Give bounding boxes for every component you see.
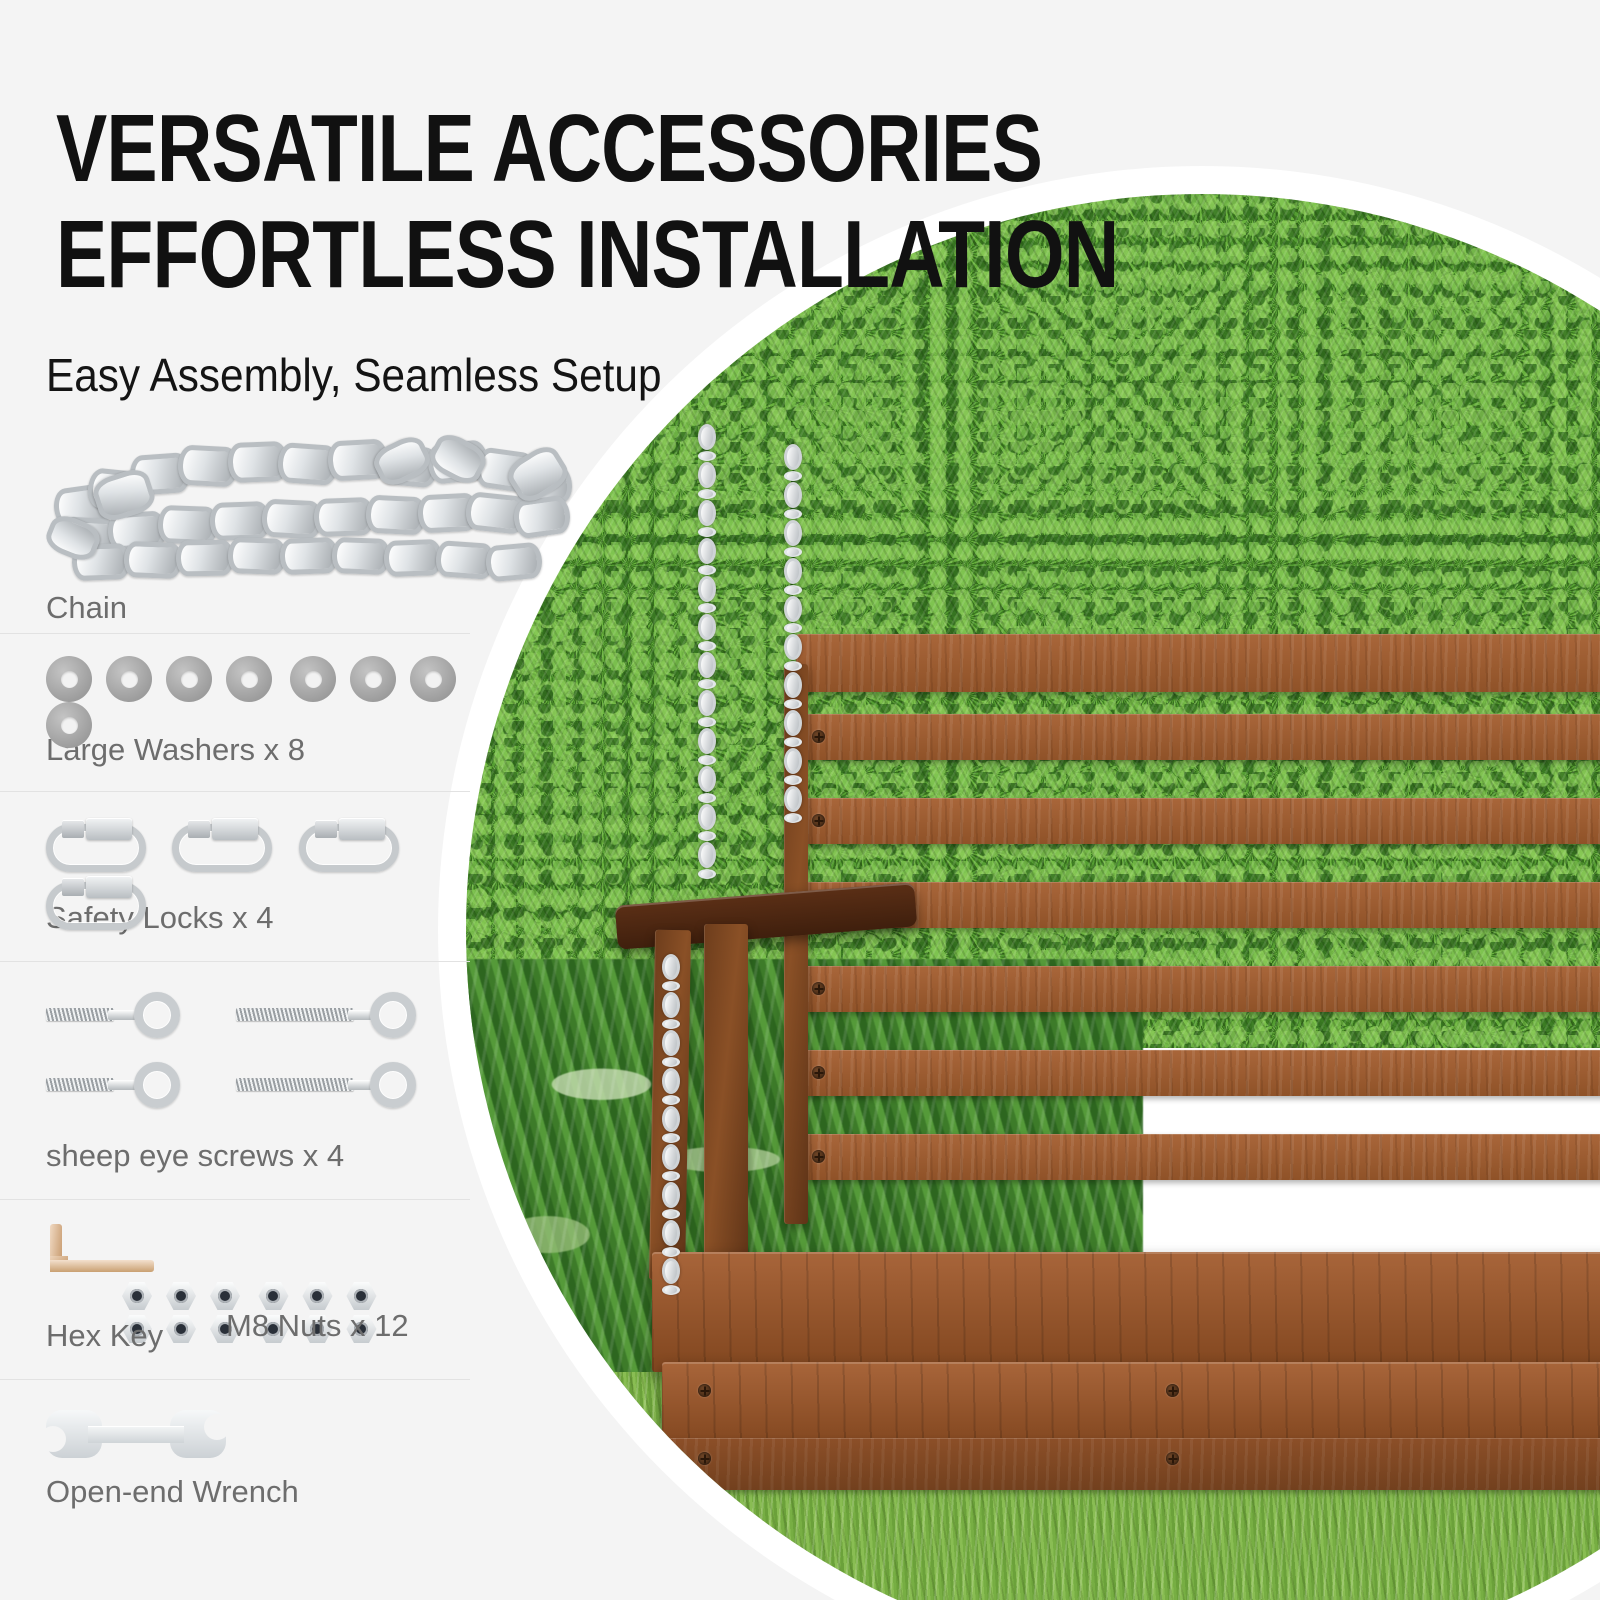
- subheadline: Easy Assembly, Seamless Setup: [46, 348, 661, 402]
- open-end-wrench-icon: [0, 1408, 500, 1460]
- parts-list-item-eye-screws: sheep eye screws x 4: [0, 962, 500, 1181]
- hanging-chain: [698, 424, 716, 880]
- hexkey-and-nuts-icons: [0, 1224, 500, 1310]
- headline-line-2: EFFORTLESS INSTALLATION: [56, 202, 952, 308]
- screw-icon: [812, 1066, 825, 1079]
- screw-icon: [1166, 1452, 1179, 1465]
- hex-key-label: Hex Key: [46, 1318, 163, 1353]
- parts-list-item-label: sheep eye screws x 4: [0, 1126, 500, 1171]
- parts-list-item-label: Open-end Wrench: [0, 1460, 500, 1507]
- headline: VERSATILE ACCESSORIES EFFORTLESS INSTALL…: [56, 96, 952, 307]
- armrest-support-post: [704, 924, 748, 1284]
- backrest-slat: [796, 966, 1600, 1012]
- backrest-slat: [796, 1050, 1600, 1096]
- parts-list-item-safety-locks: Safety Locks x 4: [0, 792, 500, 943]
- hanging-chain: [662, 954, 680, 1296]
- screw-icon: [1166, 1384, 1179, 1397]
- headline-line-1: VERSATILE ACCESSORIES: [56, 95, 1042, 202]
- quick-link-icon: [0, 818, 500, 888]
- backrest-slat: [796, 798, 1600, 844]
- parts-list-item-washers: Large Washers x 8: [0, 634, 500, 775]
- parts-list: Chain Large Washers x 8 Safety Locks x 4: [0, 432, 500, 1517]
- porch-swing: [466, 194, 1600, 1600]
- washer-icon: [0, 656, 500, 718]
- screw-icon: [698, 1452, 711, 1465]
- backrest-slat: [796, 882, 1600, 928]
- screw-icon: [698, 1384, 711, 1397]
- screw-icon: [812, 1150, 825, 1163]
- backrest-slat: [796, 714, 1600, 760]
- swing-top-rail: [796, 634, 1600, 692]
- swing-seat-skirt: [662, 1438, 1600, 1490]
- eye-screw-icon: [0, 986, 500, 1112]
- screw-icon: [812, 814, 825, 827]
- parts-list-item-wrench: Open-end Wrench: [0, 1380, 500, 1517]
- m8-nuts-label: M8 Nuts x 12: [226, 1310, 409, 1341]
- backrest-slat: [796, 1134, 1600, 1180]
- swing-seat-front-rail: [662, 1362, 1600, 1448]
- chain-icon: [0, 432, 500, 592]
- screw-icon: [812, 730, 825, 743]
- hex-key-icon: [46, 1224, 156, 1282]
- parts-list-item-label: Hex Key M8 Nuts x 12: [0, 1310, 500, 1351]
- swing-seat: [652, 1252, 1600, 1372]
- parts-list-item-hexkey-nuts: Hex Key M8 Nuts x 12: [0, 1200, 500, 1361]
- product-photo-inner: [466, 194, 1600, 1600]
- parts-list-item-chain: Chain: [0, 432, 500, 633]
- parts-list-item-label: Chain: [0, 592, 500, 623]
- screw-icon: [812, 982, 825, 995]
- hanging-chain: [784, 444, 802, 824]
- marketing-image: VERSATILE ACCESSORIES EFFORTLESS INSTALL…: [0, 0, 1600, 1600]
